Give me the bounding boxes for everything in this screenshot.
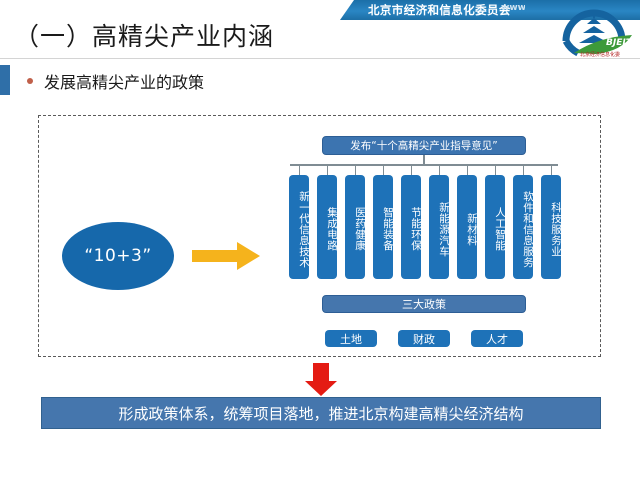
- connector-drop: [439, 166, 440, 175]
- publish-banner: 发布“十个高精尖产业指导意见”: [322, 136, 526, 155]
- connector-drop: [327, 166, 328, 175]
- yellow-right-arrow-icon: [192, 240, 262, 272]
- connector-drop: [383, 166, 384, 175]
- industry-column-group: 新一代信息技术集成电路医药健康智能装备节能环保新能源汽车新材料人工智能软件和信息…: [285, 175, 565, 279]
- bullet-text: 发展高精尖产业的政策: [44, 69, 204, 93]
- org-banner-text: 北京市经济和信息化委员会: [368, 2, 511, 18]
- org-url-text: www: [501, 3, 525, 13]
- bjeit-logo: BJEIT 北京经济信息化委: [552, 1, 638, 59]
- source-ellipse: “10+3”: [62, 222, 174, 290]
- title-divider: [0, 58, 640, 59]
- connector-drop: [495, 166, 496, 175]
- industry-column: 医药健康: [345, 175, 365, 279]
- connector-bus: [290, 164, 558, 166]
- connector-drop: [523, 166, 524, 175]
- industry-column: 节能环保: [401, 175, 421, 279]
- industry-column: 新一代信息技术: [289, 175, 309, 279]
- industry-column: 智能装备: [373, 175, 393, 279]
- policy-banner: 三大政策: [322, 295, 526, 313]
- bullet-dot-icon: [27, 78, 33, 84]
- slide-canvas: 北京市经济和信息化委员会 www BJEIT 北京经济信息化委 （一）高精尖产业…: [0, 0, 640, 480]
- industry-column: 集成电路: [317, 175, 337, 279]
- svg-text:BJEIT: BJEIT: [606, 38, 633, 48]
- connector-drop: [299, 166, 300, 175]
- svg-text:北京经济信息化委: 北京经济信息化委: [580, 51, 620, 58]
- industry-column: 科技服务业: [541, 175, 561, 279]
- connector-drop: [355, 166, 356, 175]
- red-down-arrow-icon: [303, 363, 339, 397]
- policy-pill: 土地: [325, 330, 377, 347]
- policy-pill: 财政: [398, 330, 450, 347]
- left-accent-bar: [0, 65, 10, 95]
- industry-column: 新材料: [457, 175, 477, 279]
- conclusion-banner: 形成政策体系，统筹项目落地，推进北京构建高精尖经济结构: [41, 397, 601, 429]
- policy-pill: 人才: [471, 330, 523, 347]
- industry-column: 软件和信息服务: [513, 175, 533, 279]
- page-title: （一）高精尖产业内涵: [14, 17, 274, 53]
- industry-column: 人工智能: [485, 175, 505, 279]
- industry-column: 新能源汽车: [429, 175, 449, 279]
- connector-drop: [551, 166, 552, 175]
- connector-drop: [467, 166, 468, 175]
- connector-drop: [411, 166, 412, 175]
